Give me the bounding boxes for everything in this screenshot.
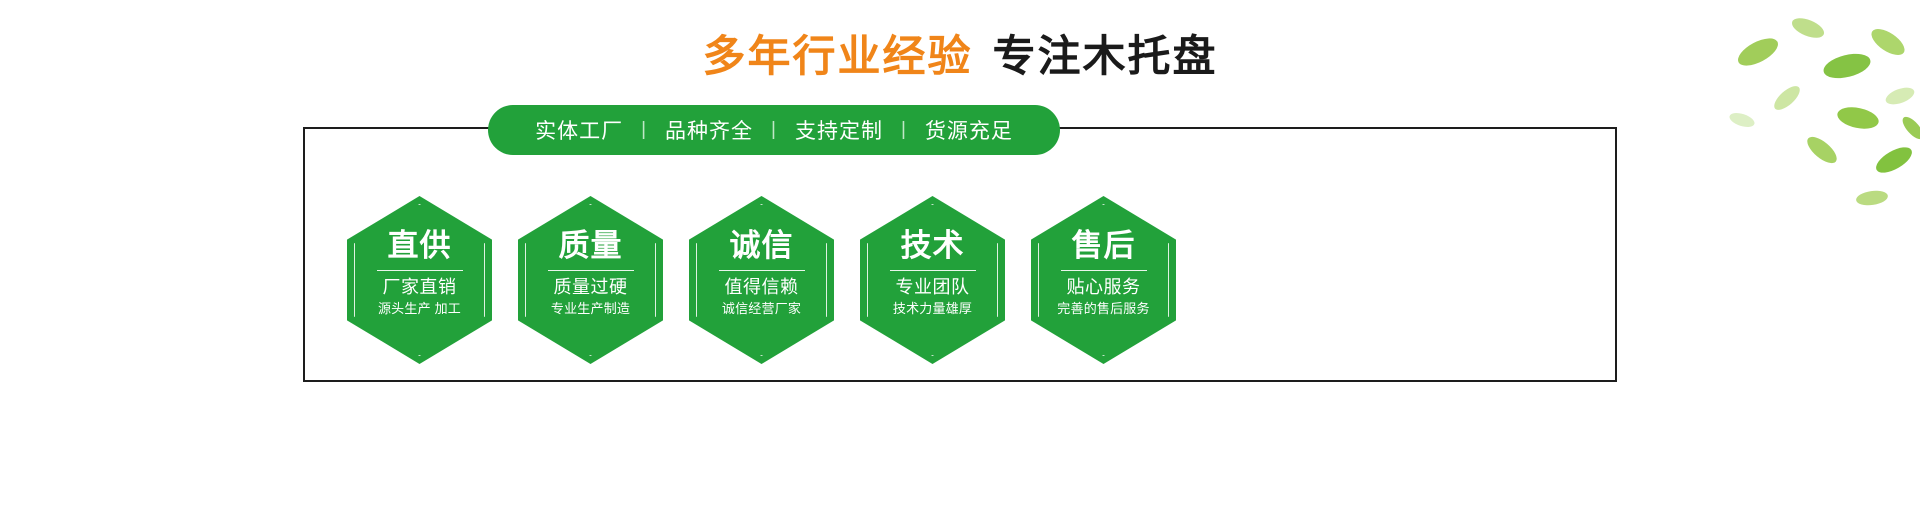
badge-title: 技术 — [901, 230, 965, 263]
badge-item: 售后 贴心服务 完善的售后服务 — [1031, 196, 1176, 364]
badge-subtitle: 贴心服务 — [1067, 277, 1141, 298]
headline-highlight: 多年行业经验 — [703, 33, 973, 81]
headline-rest: 专注木托盘 — [993, 33, 1218, 81]
badge-item: 直供 厂家直销 源头生产 加工 — [347, 196, 492, 364]
pill-item-0: 实体工厂 — [517, 115, 641, 145]
badge-subtitle: 厂家直销 — [383, 277, 457, 298]
badge-subtitle: 专业团队 — [896, 277, 970, 298]
pill-item-1: 品种齐全 — [647, 115, 771, 145]
badge-divider — [548, 270, 634, 271]
badge-note: 技术力量雄厚 — [893, 301, 972, 317]
page-title: 多年行业经验专注木托盘 — [0, 36, 1920, 79]
badge-note: 完善的售后服务 — [1057, 301, 1149, 317]
badge-item: 诚信 值得信赖 诚信经营厂家 — [689, 196, 834, 364]
pill-item-2: 支持定制 — [777, 115, 901, 145]
badge-title: 直供 — [388, 230, 452, 263]
badge-title: 售后 — [1072, 230, 1136, 263]
badge-divider — [890, 270, 976, 271]
badge-divider — [719, 270, 805, 271]
badge-row: 直供 厂家直销 源头生产 加工 质量 质量过硬 专业生产制造 诚信 值得信赖 — [303, 196, 1617, 366]
feature-pill: 实体工厂 | 品种齐全 | 支持定制 | 货源充足 — [488, 105, 1060, 155]
banner-root: 多年行业经验专注木托盘 实体工厂 | 品种齐全 | 支持定制 | 货源充足 直供… — [0, 0, 1920, 509]
badge-title: 诚信 — [730, 230, 794, 263]
badge-content: 直供 厂家直销 源头生产 加工 — [347, 196, 492, 364]
badge-item: 技术 专业团队 技术力量雄厚 — [860, 196, 1005, 364]
badge-note: 源头生产 加工 — [378, 301, 461, 317]
badge-note: 专业生产制造 — [551, 301, 630, 317]
badge-content: 技术 专业团队 技术力量雄厚 — [860, 196, 1005, 364]
badge-item: 质量 质量过硬 专业生产制造 — [518, 196, 663, 364]
pill-item-3: 货源充足 — [907, 115, 1031, 145]
badge-subtitle: 质量过硬 — [554, 277, 628, 298]
badge-divider — [1061, 270, 1147, 271]
badge-subtitle: 值得信赖 — [725, 277, 799, 298]
badge-content: 诚信 值得信赖 诚信经营厂家 — [689, 196, 834, 364]
badge-content: 售后 贴心服务 完善的售后服务 — [1031, 196, 1176, 364]
badge-content: 质量 质量过硬 专业生产制造 — [518, 196, 663, 364]
badge-note: 诚信经营厂家 — [722, 301, 801, 317]
badge-title: 质量 — [559, 230, 623, 263]
badge-divider — [377, 270, 463, 271]
